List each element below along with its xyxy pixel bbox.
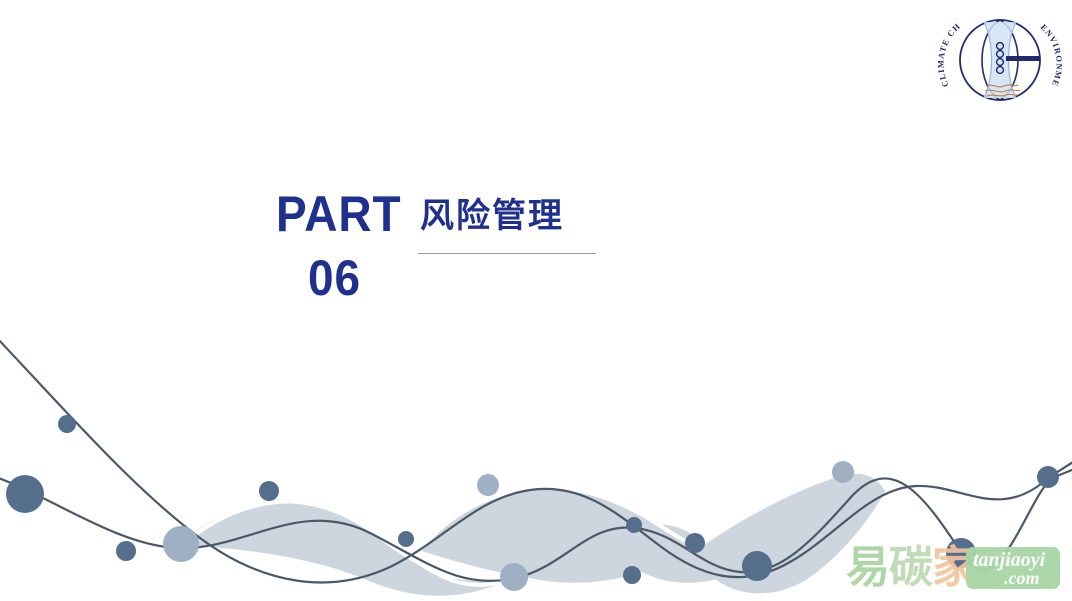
wave-node bbox=[163, 526, 199, 562]
part-number: 06 bbox=[308, 252, 361, 304]
climate-change-environment-logo: CLIMATE CHANGE ENVIRONMENT bbox=[932, 2, 1068, 126]
wave-node bbox=[477, 474, 499, 496]
wave-node bbox=[742, 551, 772, 581]
wave-node bbox=[6, 475, 44, 513]
wave-node bbox=[626, 517, 642, 533]
section-heading: 风险管理 bbox=[420, 196, 564, 236]
wave-node bbox=[1037, 466, 1059, 488]
wave-node bbox=[58, 415, 76, 433]
part-label: PART bbox=[276, 188, 401, 240]
section-title-block: PART 06 风险管理 bbox=[272, 188, 692, 328]
slide-canvas: PART 06 风险管理 bbox=[0, 0, 1072, 601]
title-underline-rule bbox=[418, 253, 596, 254]
wave-node bbox=[500, 563, 528, 591]
wave-node bbox=[946, 538, 976, 568]
wave-node bbox=[398, 531, 414, 547]
wave-node bbox=[832, 461, 854, 483]
decorative-wave-graphic bbox=[0, 300, 1072, 601]
logo-horizontal-bar bbox=[1006, 56, 1040, 61]
wave-node bbox=[116, 541, 136, 561]
wave-node bbox=[623, 566, 641, 584]
logo-left-arc-text: CLIMATE CHANGE bbox=[932, 2, 963, 88]
wave-node bbox=[259, 481, 279, 501]
wave-node bbox=[685, 533, 705, 553]
